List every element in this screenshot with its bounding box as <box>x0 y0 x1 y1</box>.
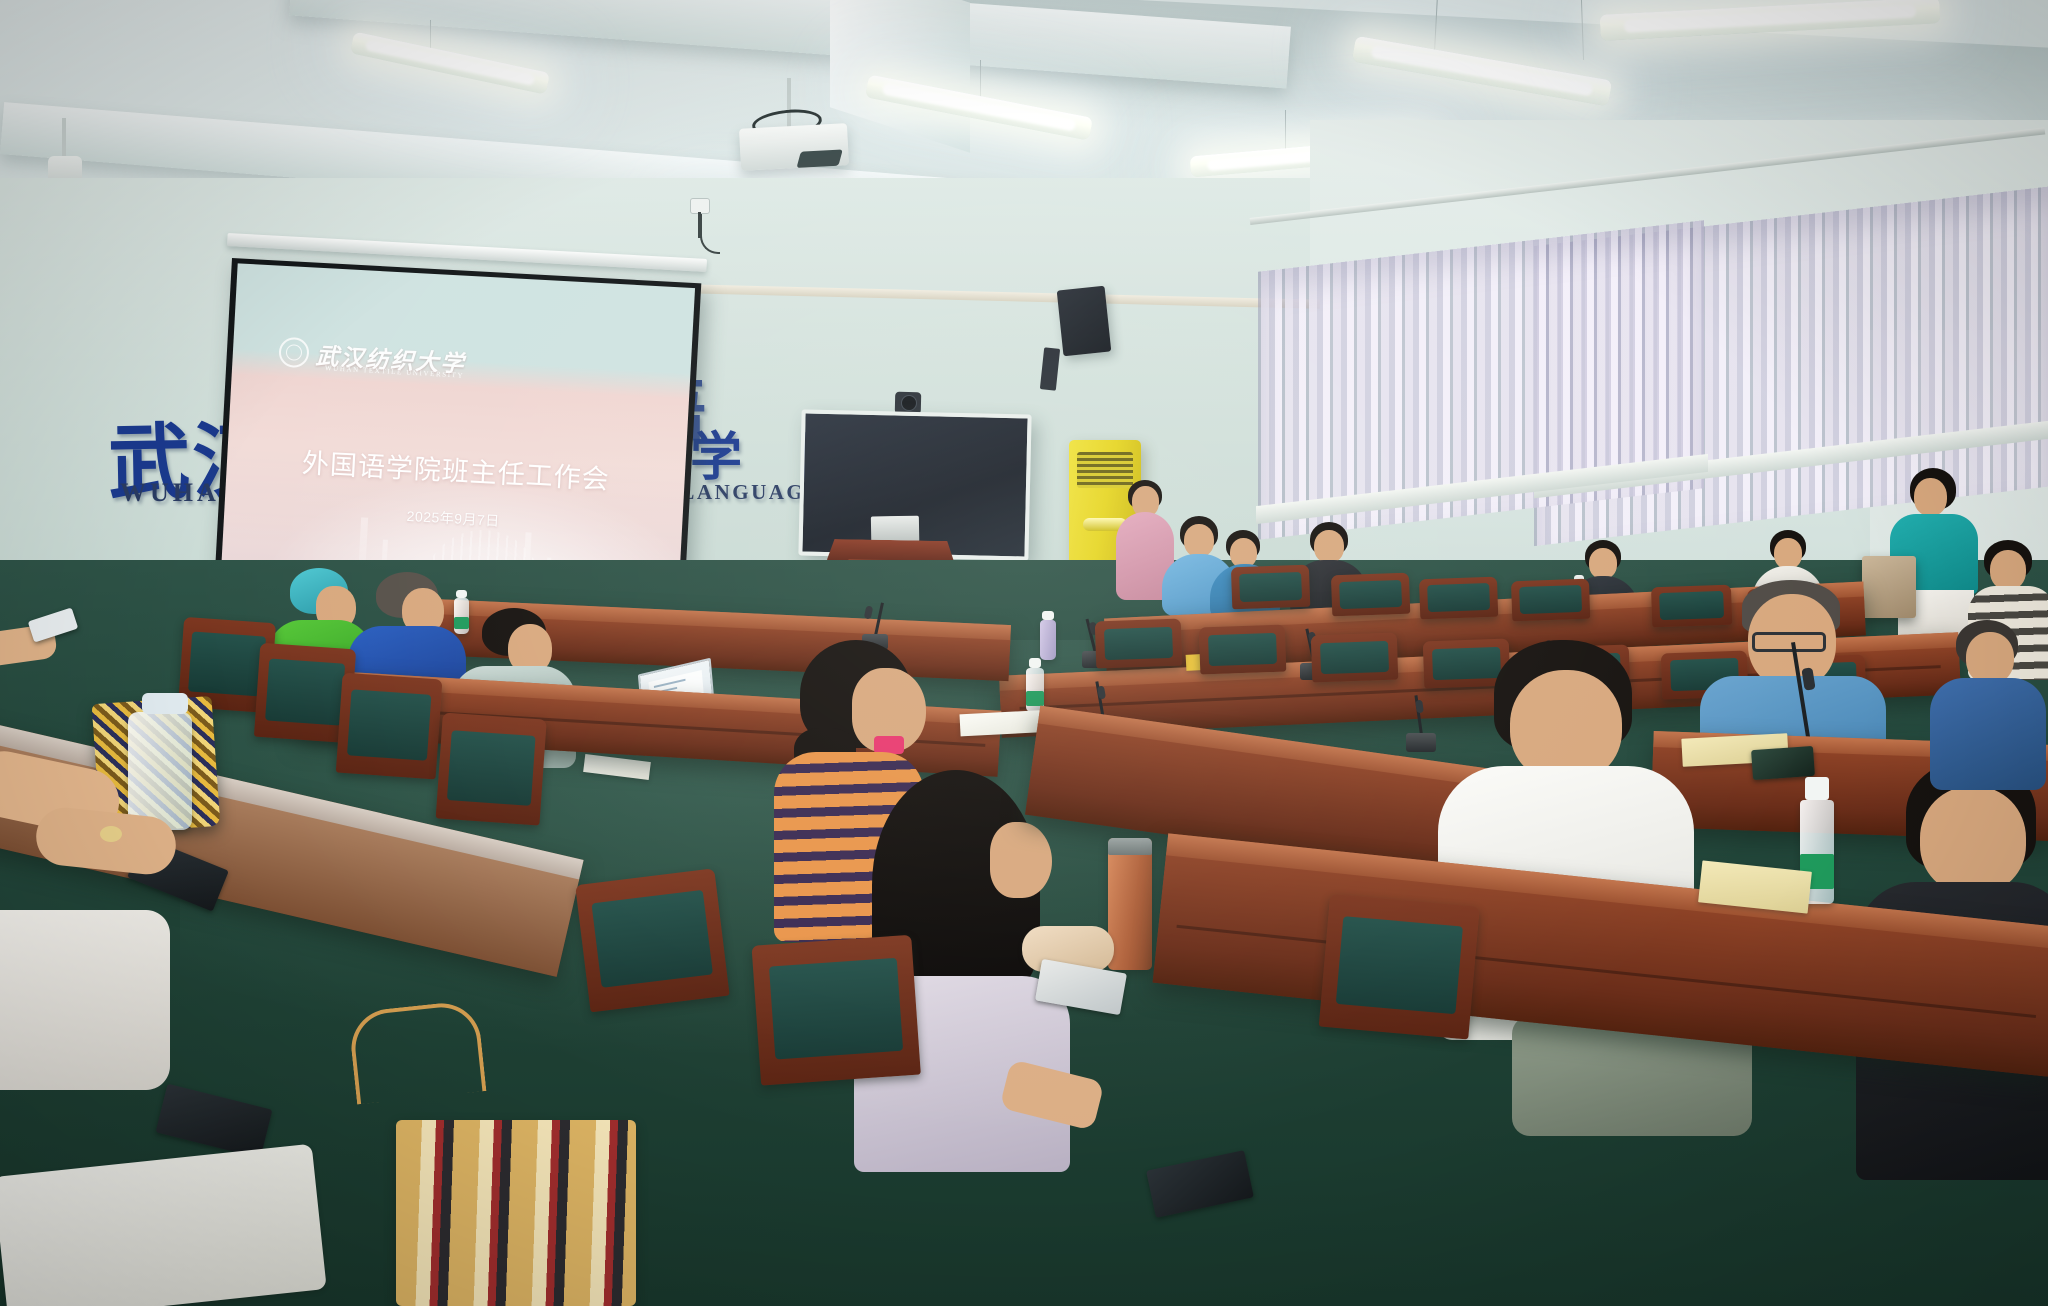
conference-chair[interactable] <box>1310 894 1479 1136</box>
conference-chair[interactable] <box>1311 633 1400 710</box>
thermos-flask[interactable] <box>1108 838 1152 970</box>
lectern-laptop[interactable] <box>871 516 919 543</box>
person-white-garment <box>0 910 170 1090</box>
conference-chair[interactable] <box>1511 579 1591 644</box>
university-seal-icon <box>278 337 310 369</box>
person-foreground-left <box>0 760 200 1090</box>
conference-chair[interactable] <box>1231 565 1311 634</box>
ceiling-projector <box>739 123 849 171</box>
conference-chair[interactable] <box>751 935 928 1196</box>
conference-chair[interactable] <box>1095 619 1184 696</box>
smartphone[interactable] <box>1751 746 1815 780</box>
conference-chair[interactable] <box>334 673 443 812</box>
meeting-room-photo: 语 武汉 WUHAN 学 院 N LANGUAGES 武汉纺织大学 <box>0 0 2048 1306</box>
ceiling-beam-side <box>830 0 970 153</box>
ceiling-fan-rod <box>62 118 66 160</box>
wall-speaker <box>1057 286 1112 357</box>
bracelet <box>100 826 122 842</box>
conference-chair[interactable] <box>575 868 741 1103</box>
conference-chair[interactable] <box>1419 577 1499 642</box>
bag-handle[interactable] <box>348 999 487 1104</box>
light-wire <box>1285 110 1286 150</box>
slide-logo: 武汉纺织大学 WUHAN TEXTILE UNIVERSITY <box>278 335 467 379</box>
eyeglasses <box>1752 632 1826 652</box>
conference-chair[interactable] <box>1331 573 1411 640</box>
conference-chair[interactable] <box>1199 625 1288 702</box>
gooseneck-microphone[interactable] <box>1406 702 1436 752</box>
water-bottle[interactable] <box>1040 620 1056 660</box>
woven-tote-bag[interactable] <box>396 1120 636 1306</box>
person-right-blue <box>1930 620 2048 790</box>
